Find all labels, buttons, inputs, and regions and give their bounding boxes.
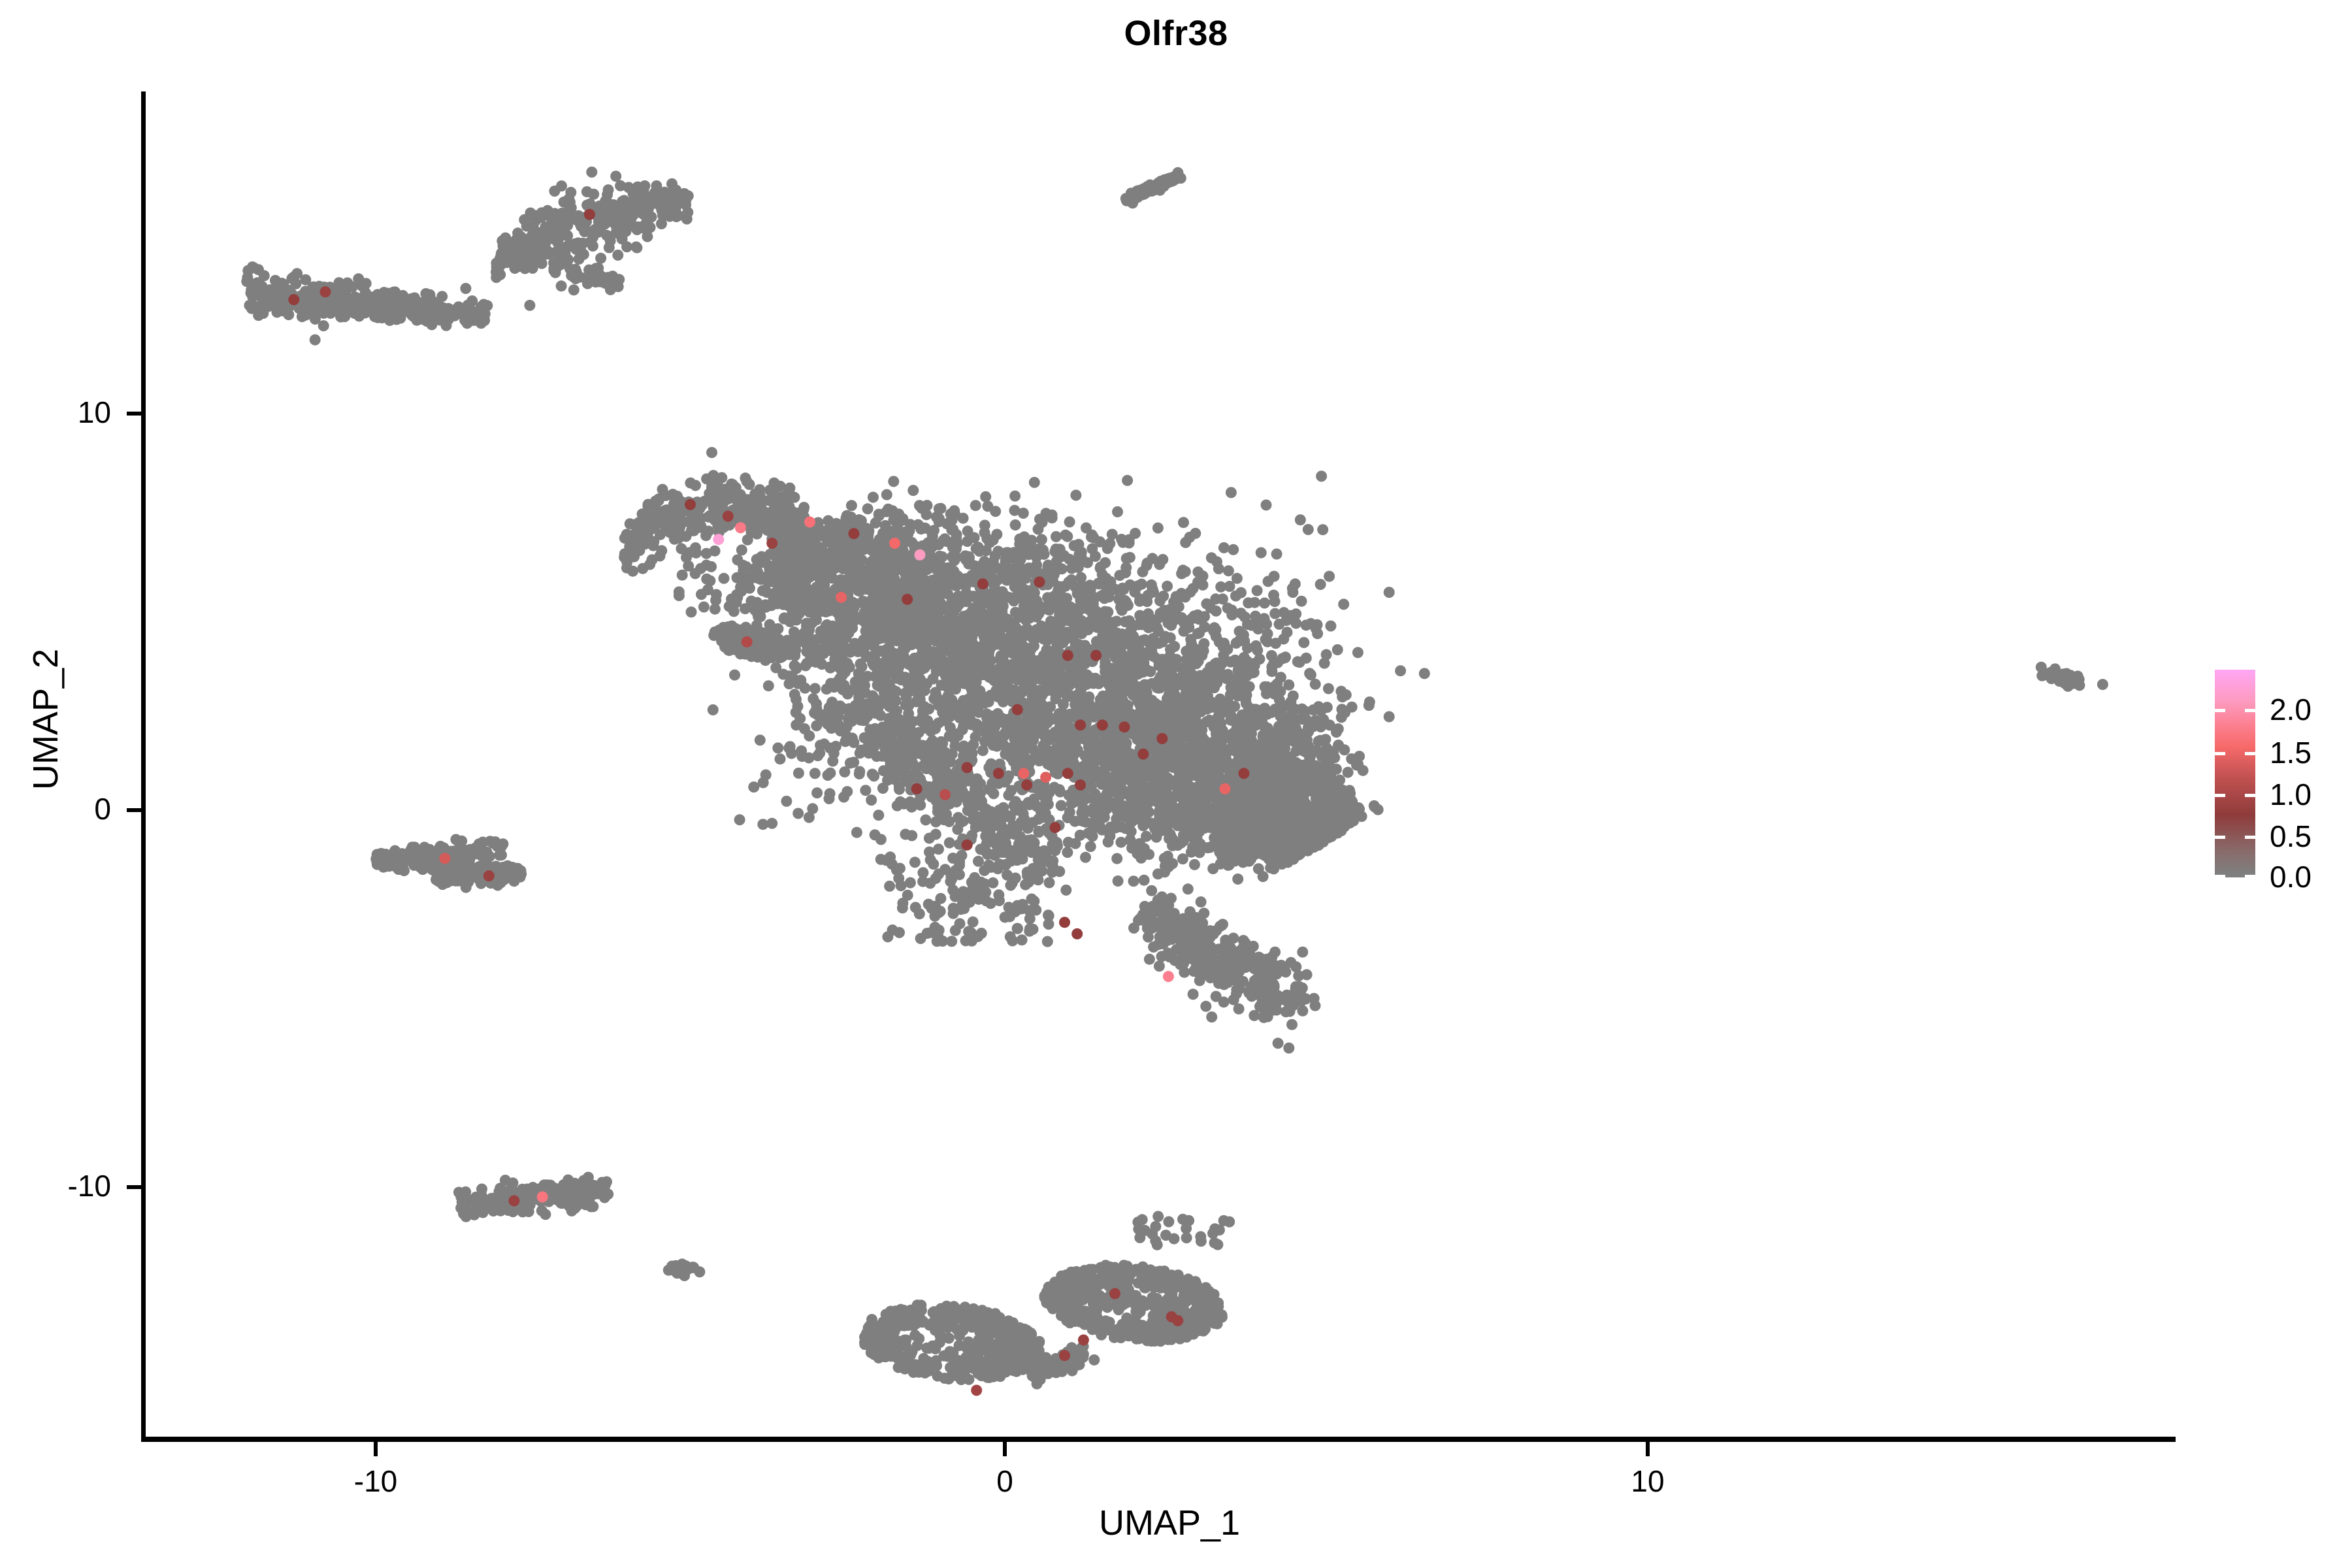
y-tick-mark-0: [127, 808, 141, 812]
colorbar-tick-0.0-left: [2215, 875, 2225, 878]
plot-panel[interactable]: [144, 91, 2176, 1439]
y-tick-mark--10: [127, 1185, 141, 1189]
colorbar-label-0.0: 0.0: [2270, 859, 2311, 894]
colorbar-label-2.0: 2.0: [2270, 692, 2311, 727]
x-tick-mark-10: [1646, 1442, 1650, 1456]
colorbar-legend[interactable]: 2.0 1.5 1.0 0.5 0.0: [2215, 670, 2345, 895]
x-tick-label--10: -10: [354, 1463, 397, 1499]
colorbar-label-0.5: 0.5: [2270, 819, 2311, 854]
x-tick-mark--10: [374, 1442, 378, 1456]
scatter-points-layer: [144, 91, 2176, 1439]
y-axis-line: [141, 91, 146, 1442]
y-tick-label-10: 10: [39, 395, 111, 430]
x-axis-title: UMAP_1: [973, 1503, 1365, 1543]
colorbar-tick-0.0-right: [2245, 875, 2255, 878]
colorbar-tick-2.0-left: [2215, 709, 2225, 712]
colorbar-tick-0.5-left: [2215, 836, 2225, 839]
colorbar-tick-0.5-right: [2245, 836, 2255, 839]
colorbar-label-1.5: 1.5: [2270, 735, 2311, 770]
colorbar-tick-1.5-right: [2245, 752, 2255, 755]
page-title: Olfr38: [0, 13, 2352, 54]
colorbar-tick-2.0-right: [2245, 709, 2255, 712]
x-tick-mark-0: [1003, 1442, 1007, 1456]
y-tick-mark-10: [127, 412, 141, 416]
colorbar-tick-1.5-left: [2215, 752, 2225, 755]
x-tick-label-10: 10: [1631, 1463, 1664, 1499]
x-axis-line: [141, 1437, 2176, 1442]
colorbar-tick-1.0-left: [2215, 794, 2225, 797]
colorbar-label-1.0: 1.0: [2270, 777, 2311, 812]
colorbar-tick-1.0-right: [2245, 794, 2255, 797]
y-tick-label--10: -10: [16, 1168, 111, 1203]
umap-feature-plot: Olfr38 10 0 -10 -10 0 10 UMAP_2 UMAP_1 2…: [0, 0, 2352, 1568]
y-axis-title: UMAP_2: [25, 523, 66, 915]
colorbar-gradient: [2215, 670, 2255, 877]
x-tick-label-0: 0: [996, 1463, 1013, 1499]
